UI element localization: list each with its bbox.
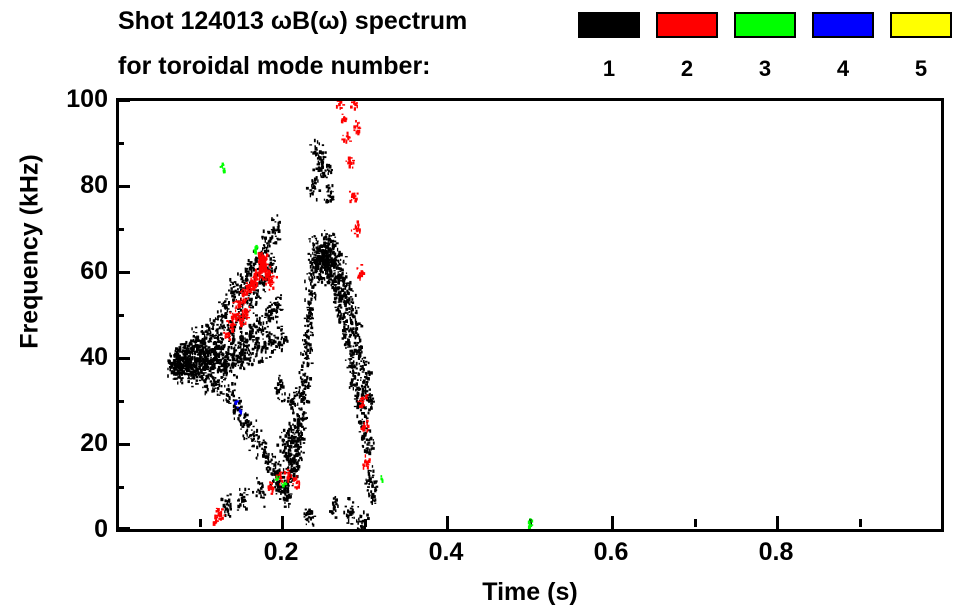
y-tick-label-40: 40 xyxy=(44,343,108,372)
legend-label-4: 4 xyxy=(812,56,874,82)
x-tick-label-0.6: 0.6 xyxy=(566,538,656,567)
x-axis-line xyxy=(116,529,944,532)
legend-label-3: 3 xyxy=(734,56,796,82)
y-tick-label-60: 60 xyxy=(44,257,108,286)
y-tick-label-20: 20 xyxy=(44,429,108,458)
x-tick-label-0.4: 0.4 xyxy=(401,538,491,567)
x-tick-label-0.8: 0.8 xyxy=(731,538,821,567)
legend-swatch-3 xyxy=(734,12,796,38)
legend-label-5: 5 xyxy=(890,56,952,82)
y-tick-labels: 100 80 60 40 20 0 xyxy=(40,0,108,615)
y-tick-label-100: 100 xyxy=(44,85,108,114)
y-tick-label-0: 0 xyxy=(44,515,108,544)
legend-label-1: 1 xyxy=(578,56,640,82)
data-plot-area xyxy=(119,101,941,529)
y-axis-title: Frequency (kHz) xyxy=(16,62,45,442)
chart-title-line-2: for toroidal mode number: xyxy=(118,52,431,81)
legend-swatch-1 xyxy=(578,12,640,38)
legend-swatch-2 xyxy=(656,12,718,38)
scatter-points xyxy=(119,101,941,529)
x-axis-title: Time (s) xyxy=(116,578,944,607)
y-tick-label-80: 80 xyxy=(44,171,108,200)
right-axis-line xyxy=(941,98,944,532)
legend-swatch-4 xyxy=(812,12,874,38)
x-tick-label-0.2: 0.2 xyxy=(236,538,326,567)
legend-label-2: 2 xyxy=(656,56,718,82)
spectrogram-figure: Shot 124013 ωB(ω) spectrum for toroidal … xyxy=(0,0,963,615)
legend-swatch-5 xyxy=(890,12,952,38)
chart-title-line-1: Shot 124013 ωB(ω) spectrum xyxy=(118,7,467,36)
